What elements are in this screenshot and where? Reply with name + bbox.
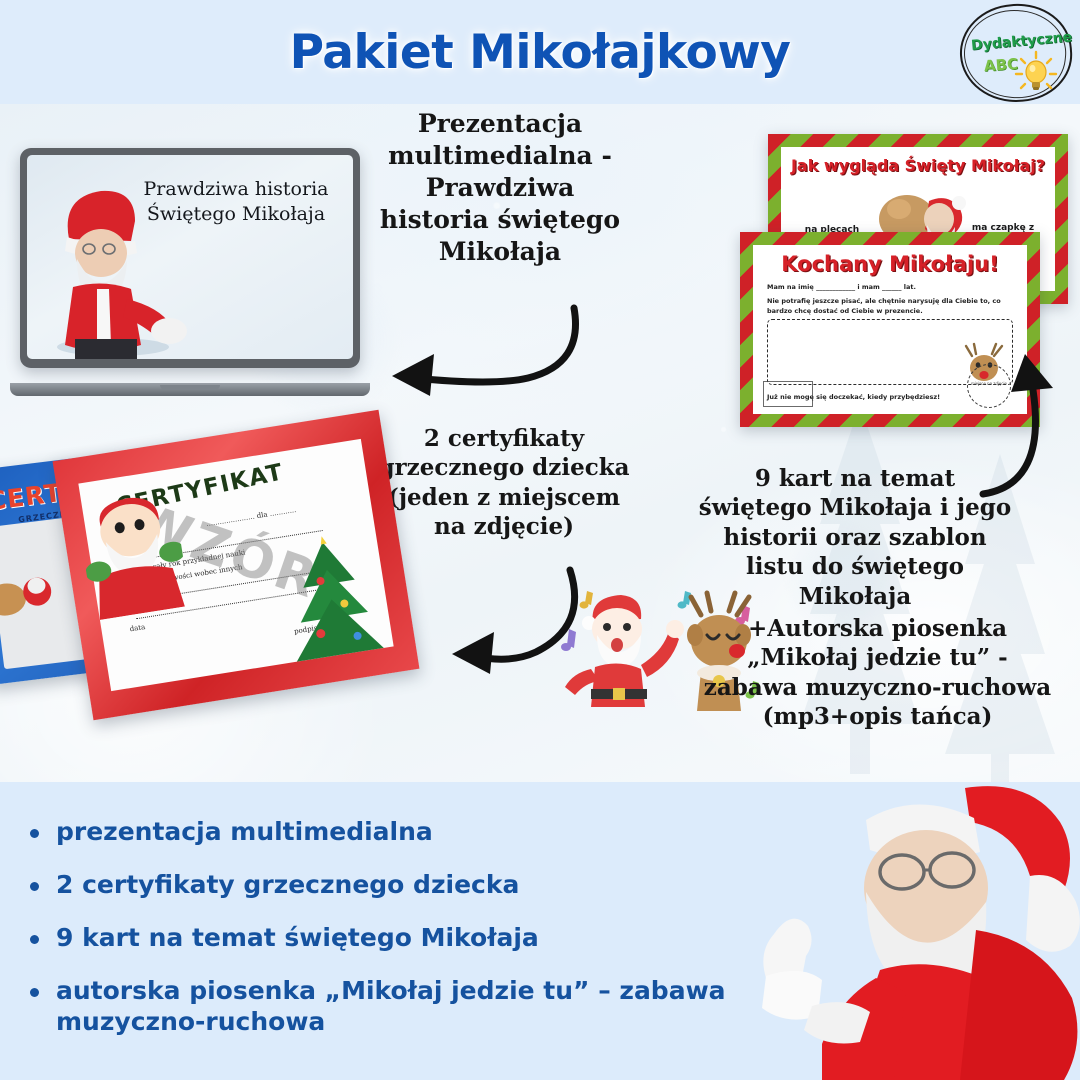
santa-presenting-photo [39,179,189,359]
page-title: Pakiet Mikołajkowy [290,25,791,80]
poster-root: Pakiet Mikołajkowy Dydaktyczne ABC [0,0,1080,1080]
bullet-dot-icon [30,882,39,891]
laptop-mockup: Prawdziwa historia Świętego Mikołaja [10,148,370,398]
christmas-tree-decoration-icon [262,527,401,674]
decorative-stamp-icon [763,381,813,407]
list-item: prezentacja multimedialna [22,816,742,847]
list-item-label: prezentacja multimedialna [56,816,742,847]
list-item: 9 kart na temat świętego Mikołaja [22,922,742,953]
certificate-red-inner: CERTYFIKAT ...................... dla ..… [78,439,393,691]
certificate-red: CERTYFIKAT ...................... dla ..… [53,410,420,720]
santa-peeking-illustration [75,487,191,621]
letter-line-name: Mam na imię ____________ i mam ______ la… [767,283,916,291]
letter-line-intro: Nie potrafię jeszcze pisać, ale chętnie … [767,297,1013,317]
list-item: 2 certyfikaty grzecznego dziecka [22,869,742,900]
brand-logo: Dydaktyczne ABC [960,4,1072,102]
certificates-mockup: CERTYFIKAT GRZECZNEGO DZIECKA CERTYFIKAT… [0,434,396,724]
list-item-label: 9 kart na temat świętego Mikołaja [56,922,742,953]
bullet-dot-icon [30,935,39,944]
curved-arrow-left-to-laptop [378,304,593,424]
header-band: Pakiet Mikołajkowy Dydaktyczne ABC [0,0,1080,104]
features-band: prezentacja multimedialna 2 certyfikaty … [0,782,1080,1080]
list-item-label: autorska piosenka „Mikołaj jedzie tu” – … [56,975,742,1037]
card-title: Jak wygląda Święty Mikołaj? [781,156,1055,175]
dancing-santa-icon [565,595,684,707]
product-showcase-scene: Prawdziwa historia Świętego Mikołaja [0,104,1080,782]
bullet-dot-icon [30,988,39,997]
label-certificates: 2 certyfikaty grzecznego dziecka (jeden … [378,424,630,542]
laptop-screen: Prawdziwa historia Świętego Mikołaja [27,155,353,359]
list-item: autorska piosenka „Mikołaj jedzie tu” – … [22,975,742,1037]
laptop-notch [160,385,220,390]
bullet-dot-icon [30,829,39,838]
features-list: prezentacja multimedialna 2 certyfikaty … [22,816,742,1059]
lightbulb-icon [1014,50,1058,94]
laptop-lid: Prawdziwa historia Świętego Mikołaja [20,148,360,368]
list-item-label: 2 certyfikaty grzecznego dziecka [56,869,742,900]
santa-reindeer-decoration-icon [0,550,59,629]
certificate-date-label: data [129,623,146,633]
label-song: +Autorska piosenka „Mikołaj jedzie tu” -… [700,614,1055,732]
santa-thumbs-up-with-sack-photo [730,780,1080,1080]
letter-title: Kochany Mikołaju! [753,252,1027,276]
label-presentation: Prezentacja multimedialna - Prawdziwa hi… [375,108,625,268]
